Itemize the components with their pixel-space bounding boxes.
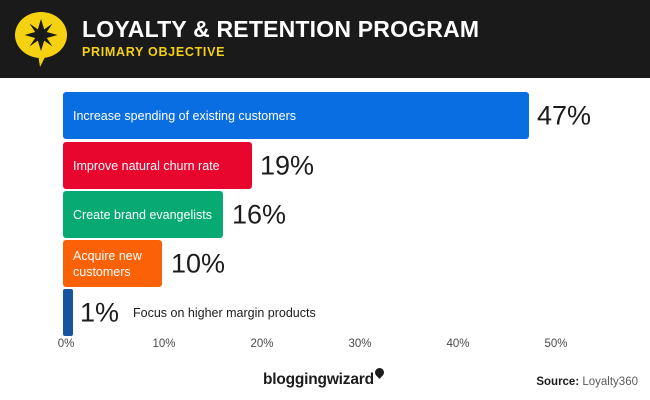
footer: bloggingwizard Source: Loyalty360: [0, 366, 650, 400]
bar-row: Increase spending of existing customers …: [63, 92, 529, 139]
header-text-block: LOYALTY & RETENTION PROGRAM PRIMARY OBJE…: [82, 16, 479, 60]
x-axis: 0% 10% 20% 30% 40% 50%: [0, 338, 650, 356]
bar-row: Create brand evangelists 16%: [63, 191, 223, 238]
axis-tick-label: 10%: [152, 338, 175, 350]
brand-logo: bloggingwizard: [263, 371, 383, 389]
bar-value: 1%: [80, 297, 119, 328]
bar-value: 16%: [232, 199, 286, 230]
map-pin-icon: [373, 366, 386, 379]
bar-row: Improve natural churn rate 19%: [63, 142, 252, 189]
axis-tick-label: 50%: [544, 338, 567, 350]
bar-value: 10%: [171, 248, 225, 279]
bar-value: 19%: [260, 150, 314, 181]
header-banner: LOYALTY & RETENTION PROGRAM PRIMARY OBJE…: [0, 0, 650, 78]
star-speech-bubble-icon: [14, 10, 70, 68]
axis-tick-label: 30%: [348, 338, 371, 350]
source-note: Source: Loyalty360: [536, 376, 638, 388]
bar-row: Acquire new customers 10%: [63, 240, 162, 287]
page-title: LOYALTY & RETENTION PROGRAM: [82, 16, 479, 42]
bar-row: 1% Focus on higher margin products: [63, 289, 73, 336]
bar-label: Acquire new customers: [73, 248, 154, 280]
bar-label: Create brand evangelists: [73, 207, 215, 223]
source-label: Source:: [536, 376, 579, 388]
bar-chart: Increase spending of existing customers …: [0, 78, 650, 348]
bar-label: Increase spending of existing customers: [73, 108, 521, 124]
bar-label: Improve natural churn rate: [73, 158, 244, 174]
axis-tick-label: 40%: [446, 338, 469, 350]
axis-tick-label: 20%: [250, 338, 273, 350]
page-subtitle: PRIMARY OBJECTIVE: [82, 44, 479, 60]
bar-label: Focus on higher margin products: [133, 305, 316, 321]
axis-tick-label: 0%: [58, 338, 75, 350]
bar-higher-margin: [63, 289, 73, 336]
brand-logo-text: bloggingwizard: [263, 371, 374, 388]
bar-value: 47%: [537, 100, 591, 131]
source-value: Loyalty360: [582, 376, 638, 388]
